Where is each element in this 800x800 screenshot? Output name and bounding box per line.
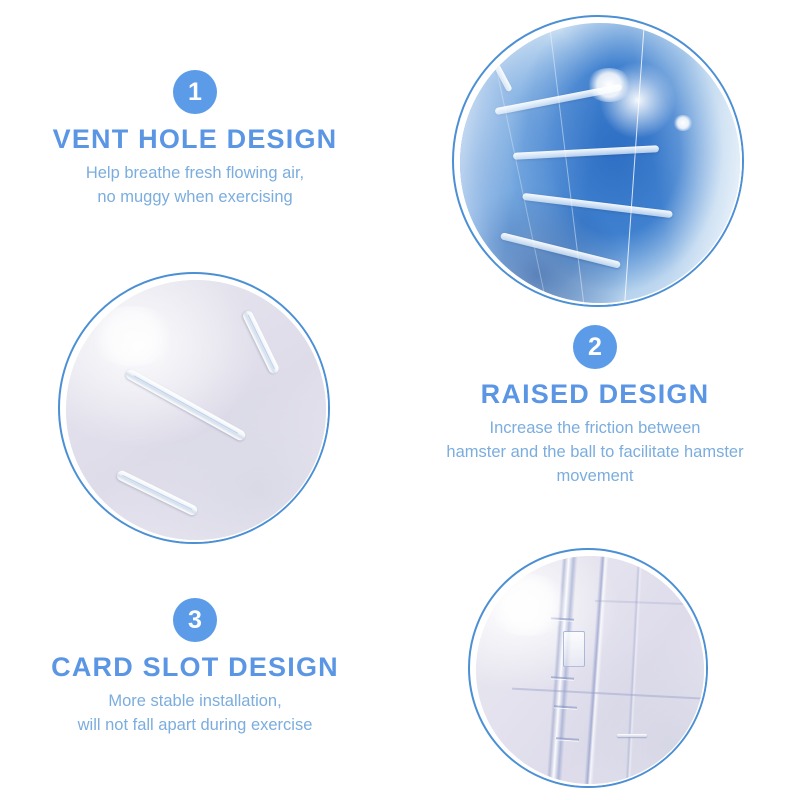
feature-photo-raised-design [58,272,330,544]
feature-description-2-line-1: Increase the friction between [400,417,790,441]
feature-description-1-line-2: no muggy when exercising [0,186,390,210]
infographic-canvas: 1 VENT HOLE DESIGN Help breathe fresh fl… [0,0,800,800]
feature-photo-vent-hole [452,15,744,307]
photo-image-1 [456,19,744,307]
feature-number-badge-3: 3 [173,598,217,642]
feature-description-3-line-1: More stable installation, [0,690,390,714]
feature-description-2-line-2: hamster and the ball to facilitate hamst… [400,441,790,465]
feature-title-2: RAISED DESIGN [400,379,790,410]
feature-block-2: 2 RAISED DESIGN Increase the friction be… [400,325,790,489]
feature-description-1: Help breathe fresh flowing air, no muggy… [0,162,390,210]
feature-photo-card-slot [468,548,708,788]
photo-image-3 [472,552,708,788]
feature-description-1-line-1: Help breathe fresh flowing air, [0,162,390,186]
feature-number-badge-2: 2 [573,325,617,369]
photo-ring-2 [58,272,330,544]
photo-ring-1 [452,15,744,307]
photo-ring-3 [468,548,708,788]
feature-block-1: 1 VENT HOLE DESIGN Help breathe fresh fl… [0,70,390,210]
feature-description-3-line-2: will not fall apart during exercise [0,714,390,738]
feature-number-badge-1: 1 [173,70,217,114]
photo-image-2 [62,276,330,544]
feature-title-3: CARD SLOT DESIGN [0,652,390,683]
feature-description-3: More stable installation, will not fall … [0,690,390,738]
feature-title-1: VENT HOLE DESIGN [0,124,390,155]
feature-description-2: Increase the friction between hamster an… [400,417,790,489]
feature-description-2-line-3: movement [400,465,790,489]
feature-block-3: 3 CARD SLOT DESIGN More stable installat… [0,598,390,738]
